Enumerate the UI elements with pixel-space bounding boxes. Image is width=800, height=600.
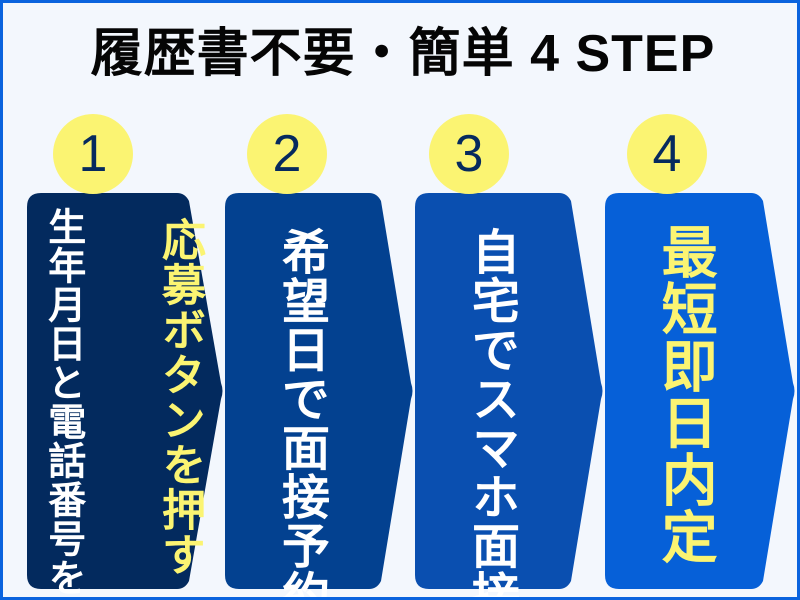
step-1-arrow-shape bbox=[27, 193, 223, 589]
step-2-badge: 2 bbox=[247, 114, 327, 194]
step-1-number: 1 bbox=[79, 128, 108, 180]
step-4: 4 最短即日内定 bbox=[605, 193, 795, 589]
step-1-badge: 1 bbox=[53, 114, 133, 194]
step-2: 2 希望日で面接予約 bbox=[225, 193, 413, 589]
step-4-badge: 4 bbox=[627, 114, 707, 194]
step-1: 1 応募ボタンを押す 生年月日と電話番号を入力 bbox=[27, 193, 223, 589]
step-3-arrow-shape bbox=[415, 193, 603, 589]
step-2-arrow-shape bbox=[225, 193, 413, 589]
step-4-arrow-shape bbox=[605, 193, 795, 589]
page-title: 履歴書不要・簡単 4 STEP bbox=[3, 25, 800, 85]
step-4-number: 4 bbox=[653, 128, 682, 180]
step-2-number: 2 bbox=[273, 128, 302, 180]
step-3-badge: 3 bbox=[429, 114, 509, 194]
step-3-number: 3 bbox=[455, 128, 484, 180]
infographic-canvas: 履歴書不要・簡単 4 STEP 1 応募ボタンを押す 生年月日と電話番号を入力 … bbox=[0, 0, 800, 600]
step-3: 3 自宅でスマホ面接 bbox=[415, 193, 603, 589]
